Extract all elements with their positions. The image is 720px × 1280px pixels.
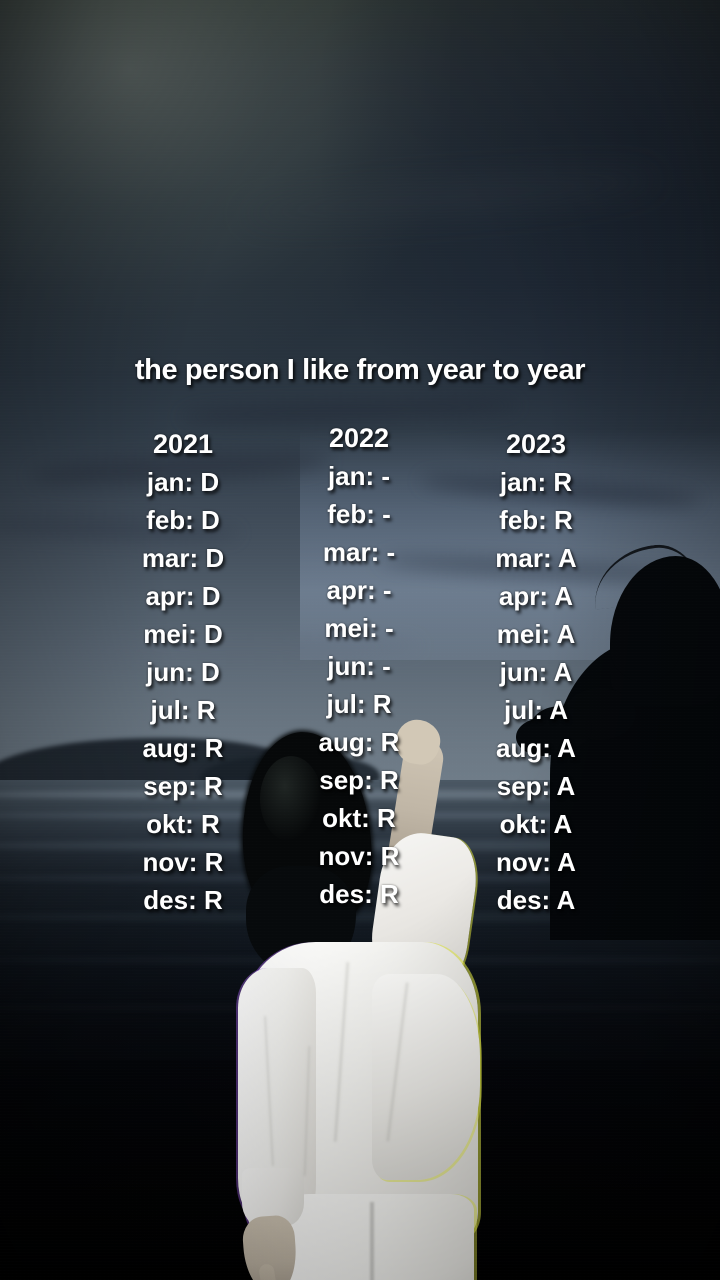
month-row: des: R xyxy=(275,875,443,913)
month-row: aug: R xyxy=(95,729,271,767)
month-row: feb: D xyxy=(95,501,271,539)
month-row: jul: R xyxy=(95,691,271,729)
page-title: the person I like from year to year xyxy=(0,354,720,387)
month-row: apr: - xyxy=(275,571,443,609)
month-row: jan: - xyxy=(275,457,443,495)
month-row: apr: D xyxy=(95,577,271,615)
month-row: sep: R xyxy=(95,767,271,805)
month-row: okt: R xyxy=(275,799,443,837)
year-column-2021: 2021 jan: D feb: D mar: D apr: D mei: D … xyxy=(95,425,271,919)
month-row: aug: R xyxy=(275,723,443,761)
year-heading: 2021 xyxy=(95,425,271,463)
month-row: sep: A xyxy=(447,767,625,805)
month-row: mei: D xyxy=(95,615,271,653)
month-row: nov: A xyxy=(447,843,625,881)
month-row: jun: - xyxy=(275,647,443,685)
month-row: jul: A xyxy=(447,691,625,729)
year-columns: 2021 jan: D feb: D mar: D apr: D mei: D … xyxy=(0,425,720,919)
month-row: nov: R xyxy=(275,837,443,875)
month-row: feb: - xyxy=(275,495,443,533)
month-row: jun: D xyxy=(95,653,271,691)
month-row: des: A xyxy=(447,881,625,919)
month-row: okt: A xyxy=(447,805,625,843)
month-row: apr: A xyxy=(447,577,625,615)
month-row: sep: R xyxy=(275,761,443,799)
month-row: des: R xyxy=(95,881,271,919)
month-row: nov: R xyxy=(95,843,271,881)
month-row: feb: R xyxy=(447,501,625,539)
month-row: mar: A xyxy=(447,539,625,577)
month-row: mar: - xyxy=(275,533,443,571)
year-column-2023: 2023 jan: R feb: R mar: A apr: A mei: A … xyxy=(447,425,625,919)
screenshot-root: the person I like from year to year 2021… xyxy=(0,0,720,1280)
month-row: mar: D xyxy=(95,539,271,577)
month-list: jan: - feb: - mar: - apr: - mei: - jun: … xyxy=(275,457,443,913)
year-heading: 2023 xyxy=(447,425,625,463)
month-list: jan: D feb: D mar: D apr: D mei: D jun: … xyxy=(95,463,271,919)
year-heading: 2022 xyxy=(275,419,443,457)
month-row: jan: R xyxy=(447,463,625,501)
month-row: jan: D xyxy=(95,463,271,501)
month-row: jul: R xyxy=(275,685,443,723)
month-row: aug: A xyxy=(447,729,625,767)
month-row: mei: A xyxy=(447,615,625,653)
year-column-2022: 2022 jan: - feb: - mar: - apr: - mei: - … xyxy=(275,419,443,919)
month-row: jun: A xyxy=(447,653,625,691)
month-row: mei: - xyxy=(275,609,443,647)
month-list: jan: R feb: R mar: A apr: A mei: A jun: … xyxy=(447,463,625,919)
text-overlay: the person I like from year to year 2021… xyxy=(0,0,720,1280)
month-row: okt: R xyxy=(95,805,271,843)
